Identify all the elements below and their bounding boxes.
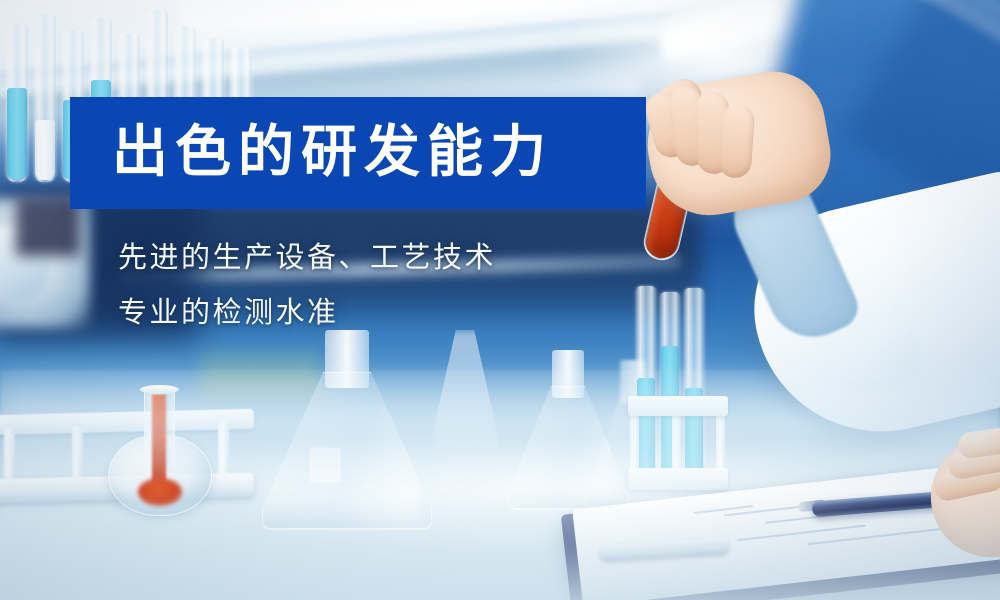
test-tube [6, 24, 28, 182]
subtitle-block: 先进的生产设备、工艺技术 专业的检测水准 [118, 243, 496, 353]
headline-banner: 出色的研发能力 [70, 97, 646, 209]
flask-lip [140, 385, 179, 394]
lab-banner-image: 出色的研发能力 先进的生产设备、工艺技术 专业的检测水准 [0, 0, 1000, 600]
rack-crossbar-top [628, 396, 728, 416]
test-tube [34, 14, 56, 182]
subtitle-line-1: 先进的生产设备、工艺技术 [118, 243, 496, 272]
bench-reflection [180, 428, 880, 548]
page-title: 出色的研发能力 [112, 125, 553, 181]
finger [717, 103, 755, 179]
subtitle-line-2: 专业的检测水准 [118, 298, 496, 327]
flask-neck [552, 350, 584, 398]
flask-liquid-pool [138, 478, 182, 506]
